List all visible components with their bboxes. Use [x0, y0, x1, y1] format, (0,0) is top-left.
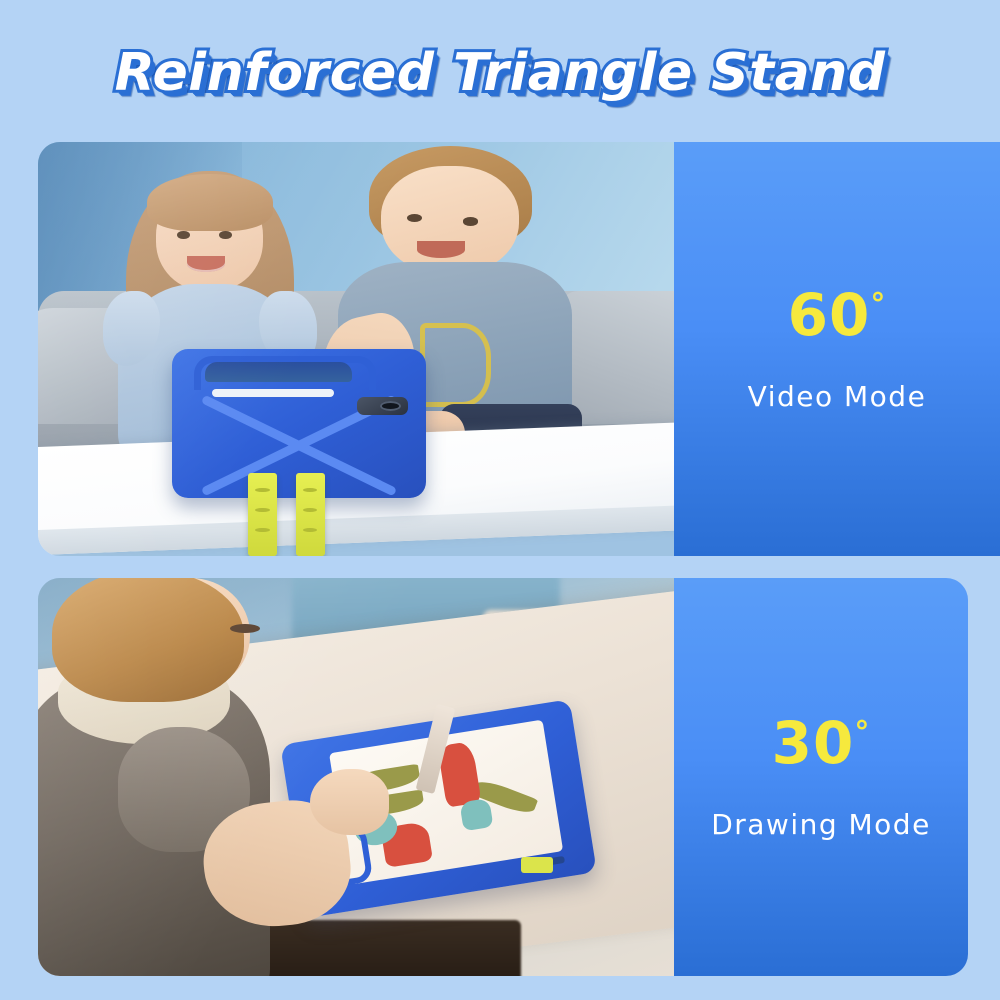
photo-video-mode: [38, 142, 674, 556]
kickstand-hole: [303, 528, 317, 532]
feature-row-drawing: 30° Drawing Mode: [38, 578, 968, 976]
girl-eye: [230, 624, 260, 633]
yellow-kickstand-left: [248, 473, 277, 556]
scene-living-room: [38, 142, 674, 556]
degree-symbol-video: °: [870, 287, 886, 322]
mode-label-drawing: Drawing Mode: [711, 808, 931, 841]
girl-eye-right: [219, 231, 231, 239]
case-stylus-slot: [212, 389, 334, 396]
angle-value-video: 60°: [788, 286, 887, 344]
tablet-camera-module: [357, 397, 408, 415]
girl-hand-holding-stylus: [310, 769, 389, 835]
kickstand-hole: [255, 528, 269, 532]
girl-hair: [52, 578, 244, 702]
child-girl-drawing: [38, 578, 356, 976]
mode-label-video: Video Mode: [748, 380, 927, 413]
photo-drawing-mode: [38, 578, 674, 976]
angle-number-drawing: 30: [772, 709, 855, 777]
yellow-kickstand-right: [296, 473, 325, 556]
girl-smile: [187, 256, 225, 272]
degree-symbol-drawing: °: [854, 715, 870, 750]
feature-row-video: 60° Video Mode: [38, 142, 968, 556]
boy-tshirt-logo: [420, 323, 491, 408]
info-panel-video-mode: 60° Video Mode: [674, 142, 1000, 556]
case-handle-opening: [205, 362, 353, 381]
info-panel-drawing-mode: 30° Drawing Mode: [674, 578, 968, 976]
title-bar: Reinforced Triangle Stand: [0, 30, 1000, 116]
angle-number-video: 60: [788, 281, 871, 349]
yellow-kickstand-tab: [521, 857, 553, 873]
angle-value-drawing: 30°: [772, 714, 871, 772]
scene-playroom: [38, 578, 674, 976]
kickstand-hole: [303, 508, 317, 512]
girl-eye-left: [177, 231, 189, 239]
girl-fringe: [147, 174, 273, 231]
artwork-character: [460, 798, 495, 832]
boy-eye-right: [463, 217, 478, 225]
page-title: Reinforced Triangle Stand: [115, 43, 886, 103]
kickstand-hole: [255, 508, 269, 512]
kickstand-hole: [255, 488, 269, 492]
kickstand-hole: [303, 488, 317, 492]
boy-face: [381, 166, 518, 275]
